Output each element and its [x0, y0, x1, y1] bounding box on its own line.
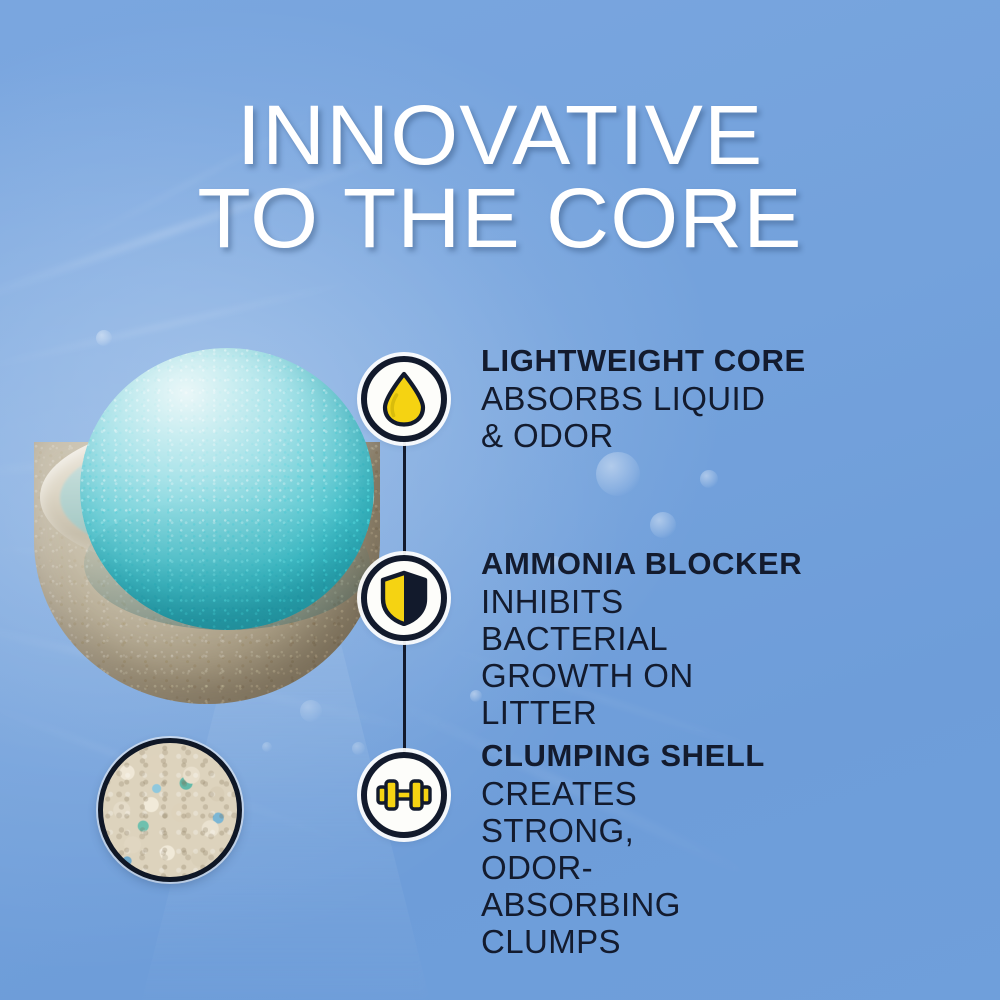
product-feature-infographic: INNOVATIVE TO THE CORE LIGHTWEIGHT CORE …	[0, 0, 1000, 1000]
product-sphere-cutaway	[30, 348, 380, 708]
shield-icon	[361, 555, 447, 641]
page-title: INNOVATIVE TO THE CORE	[0, 94, 1000, 259]
feature-heading-3: CLUMPING SHELL	[481, 740, 765, 773]
lightweight-core-layer	[80, 348, 374, 630]
feature-text-1: LIGHTWEIGHT CORE ABSORBS LIQUID & ODOR	[481, 345, 806, 455]
litter-granules-closeup	[98, 738, 242, 882]
feature-heading-2: AMMONIA BLOCKER	[481, 548, 802, 581]
feature-body-2: INHIBITS BACTERIAL GROWTH ON LITTER	[481, 584, 802, 732]
dumbbell-icon	[361, 752, 447, 838]
feature-text-3: CLUMPING SHELL CREATES STRONG, ODOR-ABSO…	[481, 740, 765, 961]
feature-body-1: ABSORBS LIQUID & ODOR	[481, 381, 806, 455]
feature-text-2: AMMONIA BLOCKER INHIBITS BACTERIAL GROWT…	[481, 548, 802, 732]
droplet-icon	[361, 356, 447, 442]
feature-body-3: CREATES STRONG, ODOR-ABSORBING CLUMPS	[481, 776, 765, 961]
feature-heading-1: LIGHTWEIGHT CORE	[481, 345, 806, 378]
